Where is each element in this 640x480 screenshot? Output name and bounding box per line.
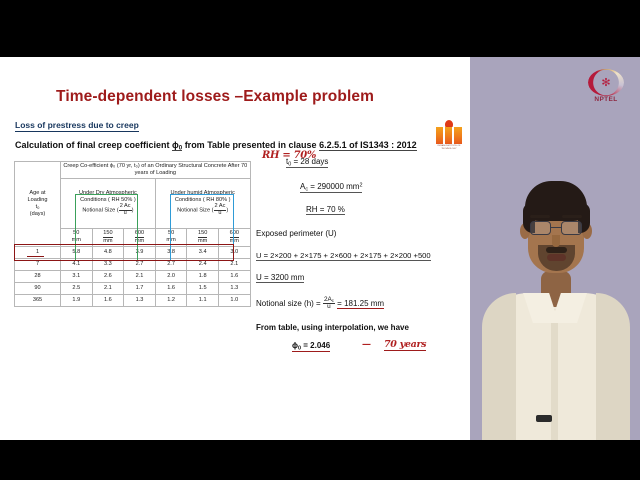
presenter-nose <box>552 235 560 247</box>
table-header-dry: Under Dry Atmospheric Conditions ( RH 50… <box>61 178 156 228</box>
cell: 2.0 <box>155 270 187 282</box>
cell: 2.1 <box>218 258 250 270</box>
cell: 1.0 <box>218 294 250 306</box>
row-age: 28 <box>15 270 61 282</box>
presenter-glasses-bridge <box>551 227 561 228</box>
table-row: 7 4.1 3.3 2.7 2.7 2.4 2.1 <box>15 258 251 270</box>
creep-coefficient-table-wrap: Age at Loading t0 (days) Creep Co-effici… <box>14 161 250 307</box>
cell: 2.1 <box>124 270 156 282</box>
cell: 2.4 <box>187 258 219 270</box>
cell: 3.1 <box>61 270 93 282</box>
presenter-shirt-shadow-left <box>482 293 516 440</box>
notional-size-fraction: 2Ac u <box>323 297 335 311</box>
unit-cell: 50mm <box>61 228 93 246</box>
unit-cell: 600mm <box>124 228 156 246</box>
clause-reference: 6.2.5.1 of IS1343 : 2012 <box>319 140 417 151</box>
screen-root: Time-dependent losses –Example problem I… <box>0 0 640 480</box>
line-u-value: U = 3200 mm <box>256 273 304 282</box>
cell: 1.8 <box>187 270 219 282</box>
cell: 3.0 <box>218 246 250 258</box>
table-header-age: Age at Loading t0 (days) <box>15 162 61 247</box>
table-row: 90 2.5 2.1 1.7 1.6 1.5 1.3 <box>15 282 251 294</box>
presenter-glasses-left-lens <box>530 221 551 235</box>
slide-panel: Time-dependent losses –Example problem I… <box>0 57 470 440</box>
cell: 5.8 <box>61 246 93 258</box>
cell: 1.3 <box>124 294 156 306</box>
cell: 1.6 <box>92 294 124 306</box>
presenter-mouth <box>547 254 566 261</box>
table-row: 1 5.8 4.8 3.9 3.8 3.4 3.0 <box>15 246 251 258</box>
letterbox-bottom <box>0 440 640 480</box>
cell: 4.8 <box>92 246 124 258</box>
line-phi-result: ϕ0 = 2.046 <box>292 341 330 352</box>
cell: 2.7 <box>155 258 187 270</box>
unit-cell: 50mm <box>155 228 187 246</box>
cell: 1.5 <box>187 282 219 294</box>
table-header-span: Creep Co-efficient ϕ₀ (70 yr, t₀) of an … <box>61 162 251 179</box>
phi-symbol: ϕ0 <box>172 140 182 151</box>
cell: 1.1 <box>187 294 219 306</box>
row-age: 365 <box>15 294 61 306</box>
unit-cell: 150mm <box>187 228 219 246</box>
cell: 1.2 <box>155 294 187 306</box>
presenter-shirt-shadow-right <box>596 293 630 440</box>
page-title: Time-dependent losses –Example problem <box>0 88 430 106</box>
dry-notional-fraction: 2 Acu <box>119 204 132 216</box>
line-notional-size: Notional size (h) = 2Ac u = 181.25 mm <box>256 297 384 311</box>
cell: 1.7 <box>124 282 156 294</box>
line-u-equation: U = 2×200 + 2×175 + 2×600 + 2×175 + 2×20… <box>256 251 431 261</box>
presenter-shirt-placket <box>551 309 558 440</box>
row-age: 7 <box>15 258 61 270</box>
cell: 3.9 <box>124 246 156 258</box>
cell: 1.9 <box>61 294 93 306</box>
line-exposed-perimeter: Exposed perimeter (U) <box>256 229 336 238</box>
video-panel[interactable]: ✻ NPTEL <box>470 57 640 440</box>
section-heading: Loss of prestress due to creep <box>15 120 139 132</box>
presenter-eyebrow-right <box>562 215 582 218</box>
handwriting-70-years: 70 years <box>384 339 426 351</box>
line-from-table: From table, using interpolation, we have <box>256 323 409 332</box>
row-age: 1 <box>15 246 61 258</box>
presenter-glasses-right-lens <box>561 221 582 235</box>
handwriting-dash: — <box>362 340 371 350</box>
unit-cell: 600mm <box>218 228 250 246</box>
cell: 3.8 <box>155 246 187 258</box>
line-ac: Ac = 290000 mm2 <box>300 182 362 193</box>
presenter-lapel-mic <box>536 415 552 422</box>
intro-prefix: Calculation of final creep coefficient <box>15 140 172 150</box>
table-row-highlighted: 28 3.1 2.6 2.1 2.0 1.8 1.6 <box>15 270 251 282</box>
cell: 1.6 <box>155 282 187 294</box>
unit-cell: 150mm <box>92 228 124 246</box>
creep-coefficient-table: Age at Loading t0 (days) Creep Co-effici… <box>14 161 251 307</box>
cell: 2.5 <box>61 282 93 294</box>
cell: 2.1 <box>92 282 124 294</box>
letterbox-top <box>0 0 640 57</box>
cell: 3.3 <box>92 258 124 270</box>
cell: 2.6 <box>92 270 124 282</box>
humid-notional-fraction: 2 Acu <box>214 204 227 216</box>
handwriting-rh: RH = 70% <box>262 150 316 161</box>
cell: 1.3 <box>218 282 250 294</box>
cell: 4.1 <box>61 258 93 270</box>
table-row: 365 1.9 1.6 1.3 1.2 1.1 1.0 <box>15 294 251 306</box>
intro-sentence: Calculation of final creep coefficient ϕ… <box>15 140 465 152</box>
intro-mid: from Table presented in clause <box>182 140 319 150</box>
cell: 3.4 <box>187 246 219 258</box>
cell: 2.7 <box>124 258 156 270</box>
cell: 1.6 <box>218 270 250 282</box>
presenter-eyebrow-left <box>530 215 550 218</box>
line-rh: RH = 70 % <box>306 205 345 215</box>
table-header-humid: Under humid Atmospheric Conditions ( RH … <box>155 178 250 228</box>
presenter-moustache <box>546 247 567 253</box>
table-header-row-1: Age at Loading t0 (days) Creep Co-effici… <box>15 162 251 179</box>
presenter-figure <box>470 57 640 440</box>
row-age: 90 <box>15 282 61 294</box>
